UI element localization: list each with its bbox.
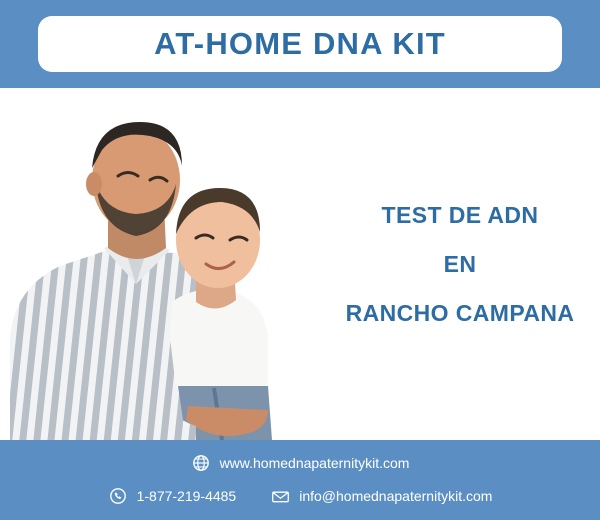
main-content: TEST DE ADN EN RANCHO CAMPANA	[0, 88, 600, 440]
title-pill: AT-HOME DNA KIT	[38, 16, 562, 72]
footer-website[interactable]: www.homednapaternitykit.com	[191, 453, 410, 473]
footer-phone-text: 1-877-219-4485	[137, 488, 237, 504]
father-holding-child-photo	[0, 88, 320, 440]
footer-email[interactable]: info@homednapaternitykit.com	[270, 486, 492, 506]
footer-website-row: www.homednapaternitykit.com	[0, 452, 600, 474]
subject-line-2: EN	[444, 240, 477, 289]
envelope-icon	[270, 486, 290, 506]
subject-text-block: TEST DE ADN EN RANCHO CAMPANA	[320, 88, 600, 440]
page-title: AT-HOME DNA KIT	[154, 26, 446, 62]
globe-icon	[191, 453, 211, 473]
subject-line-3: RANCHO CAMPANA	[346, 289, 575, 338]
footer-bar: www.homednapaternitykit.com 1-877-219-44…	[0, 440, 600, 520]
at-home-dna-kit-banner: AT-HOME DNA KIT	[0, 0, 600, 520]
phone-icon	[108, 486, 128, 506]
footer-contact-row: 1-877-219-4485 info@homednapaternitykit.…	[0, 485, 600, 507]
footer-phone[interactable]: 1-877-219-4485	[108, 486, 237, 506]
footer-website-text: www.homednapaternitykit.com	[220, 455, 410, 471]
footer-email-text: info@homednapaternitykit.com	[299, 488, 492, 504]
subject-line-1: TEST DE ADN	[382, 191, 539, 240]
header-band: AT-HOME DNA KIT	[0, 0, 600, 88]
